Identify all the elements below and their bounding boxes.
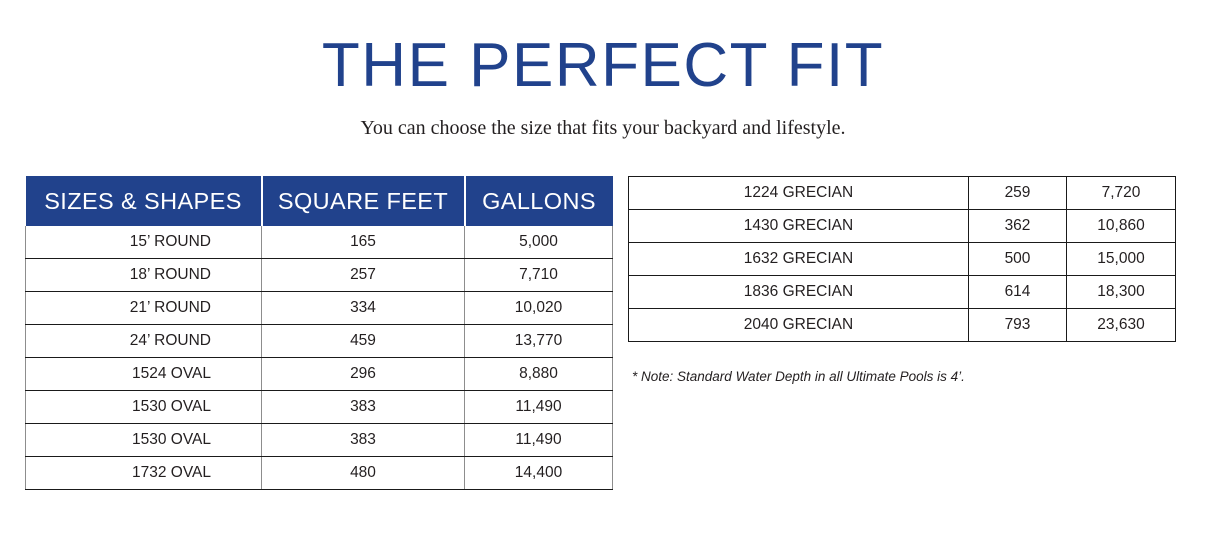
grecian-table-body: 1224 GRECIAN 259 7,720 1430 GRECIAN 362 … bbox=[629, 177, 1176, 342]
cell-gallons: 10,020 bbox=[465, 292, 613, 325]
table-row: 1524 OVAL 296 8,880 bbox=[26, 358, 613, 391]
table-row: 1836 GRECIAN 614 18,300 bbox=[629, 276, 1176, 309]
cell-gallons: 18,300 bbox=[1067, 276, 1176, 309]
cell-gallons: 23,630 bbox=[1067, 309, 1176, 342]
cell-square-feet: 259 bbox=[969, 177, 1067, 210]
table-footnote: * Note: Standard Water Depth in all Ulti… bbox=[632, 368, 965, 386]
cell-size: 1530 OVAL bbox=[26, 424, 262, 457]
cell-gallons: 5,000 bbox=[465, 226, 613, 259]
cell-square-feet: 793 bbox=[969, 309, 1067, 342]
table-row: 1530 OVAL 383 11,490 bbox=[26, 424, 613, 457]
cell-square-feet: 383 bbox=[262, 424, 465, 457]
column-header-square-feet: SQUARE FEET bbox=[262, 176, 465, 226]
column-header-sizes-shapes: SIZES & SHAPES bbox=[26, 176, 262, 226]
table-row: 1224 GRECIAN 259 7,720 bbox=[629, 177, 1176, 210]
table-row: 24’ ROUND 459 13,770 bbox=[26, 325, 613, 358]
cell-size: 2040 GRECIAN bbox=[629, 309, 969, 342]
cell-gallons: 7,720 bbox=[1067, 177, 1176, 210]
table-row: 1530 OVAL 383 11,490 bbox=[26, 391, 613, 424]
cell-square-feet: 614 bbox=[969, 276, 1067, 309]
cell-gallons: 10,860 bbox=[1067, 210, 1176, 243]
cell-gallons: 15,000 bbox=[1067, 243, 1176, 276]
cell-gallons: 8,880 bbox=[465, 358, 613, 391]
cell-size: 18’ ROUND bbox=[26, 259, 262, 292]
cell-gallons: 11,490 bbox=[465, 424, 613, 457]
cell-square-feet: 500 bbox=[969, 243, 1067, 276]
cell-size: 1530 OVAL bbox=[26, 391, 262, 424]
cell-square-feet: 383 bbox=[262, 391, 465, 424]
table-row: 1632 GRECIAN 500 15,000 bbox=[629, 243, 1176, 276]
cell-gallons: 13,770 bbox=[465, 325, 613, 358]
table-row: 2040 GRECIAN 793 23,630 bbox=[629, 309, 1176, 342]
grecian-table: 1224 GRECIAN 259 7,720 1430 GRECIAN 362 … bbox=[628, 176, 1176, 342]
table-header-row: SIZES & SHAPES SQUARE FEET GALLONS bbox=[26, 176, 613, 226]
cell-size: 21’ ROUND bbox=[26, 292, 262, 325]
table-row: 21’ ROUND 334 10,020 bbox=[26, 292, 613, 325]
cell-square-feet: 296 bbox=[262, 358, 465, 391]
cell-square-feet: 165 bbox=[262, 226, 465, 259]
cell-square-feet: 334 bbox=[262, 292, 465, 325]
cell-square-feet: 480 bbox=[262, 457, 465, 490]
cell-size: 24’ ROUND bbox=[26, 325, 262, 358]
cell-size: 1224 GRECIAN bbox=[629, 177, 969, 210]
table-row: 1430 GRECIAN 362 10,860 bbox=[629, 210, 1176, 243]
cell-size: 1732 OVAL bbox=[26, 457, 262, 490]
table-row: 18’ ROUND 257 7,710 bbox=[26, 259, 613, 292]
cell-size: 15’ ROUND bbox=[26, 226, 262, 259]
column-header-gallons: GALLONS bbox=[465, 176, 613, 226]
sizes-shapes-table: SIZES & SHAPES SQUARE FEET GALLONS 15’ R… bbox=[25, 176, 613, 490]
table-row: 15’ ROUND 165 5,000 bbox=[26, 226, 613, 259]
cell-gallons: 14,400 bbox=[465, 457, 613, 490]
cell-size: 1524 OVAL bbox=[26, 358, 262, 391]
table-row: 1732 OVAL 480 14,400 bbox=[26, 457, 613, 490]
cell-size: 1836 GRECIAN bbox=[629, 276, 969, 309]
cell-square-feet: 362 bbox=[969, 210, 1067, 243]
cell-gallons: 7,710 bbox=[465, 259, 613, 292]
cell-gallons: 11,490 bbox=[465, 391, 613, 424]
page-title: THE PERFECT FIT bbox=[0, 34, 1206, 98]
cell-size: 1632 GRECIAN bbox=[629, 243, 969, 276]
sizes-shapes-table-body: 15’ ROUND 165 5,000 18’ ROUND 257 7,710 … bbox=[26, 226, 613, 490]
cell-square-feet: 257 bbox=[262, 259, 465, 292]
cell-size: 1430 GRECIAN bbox=[629, 210, 969, 243]
cell-square-feet: 459 bbox=[262, 325, 465, 358]
page-subtitle: You can choose the size that fits your b… bbox=[0, 116, 1206, 140]
sizes-shapes-table-head: SIZES & SHAPES SQUARE FEET GALLONS bbox=[26, 176, 613, 226]
